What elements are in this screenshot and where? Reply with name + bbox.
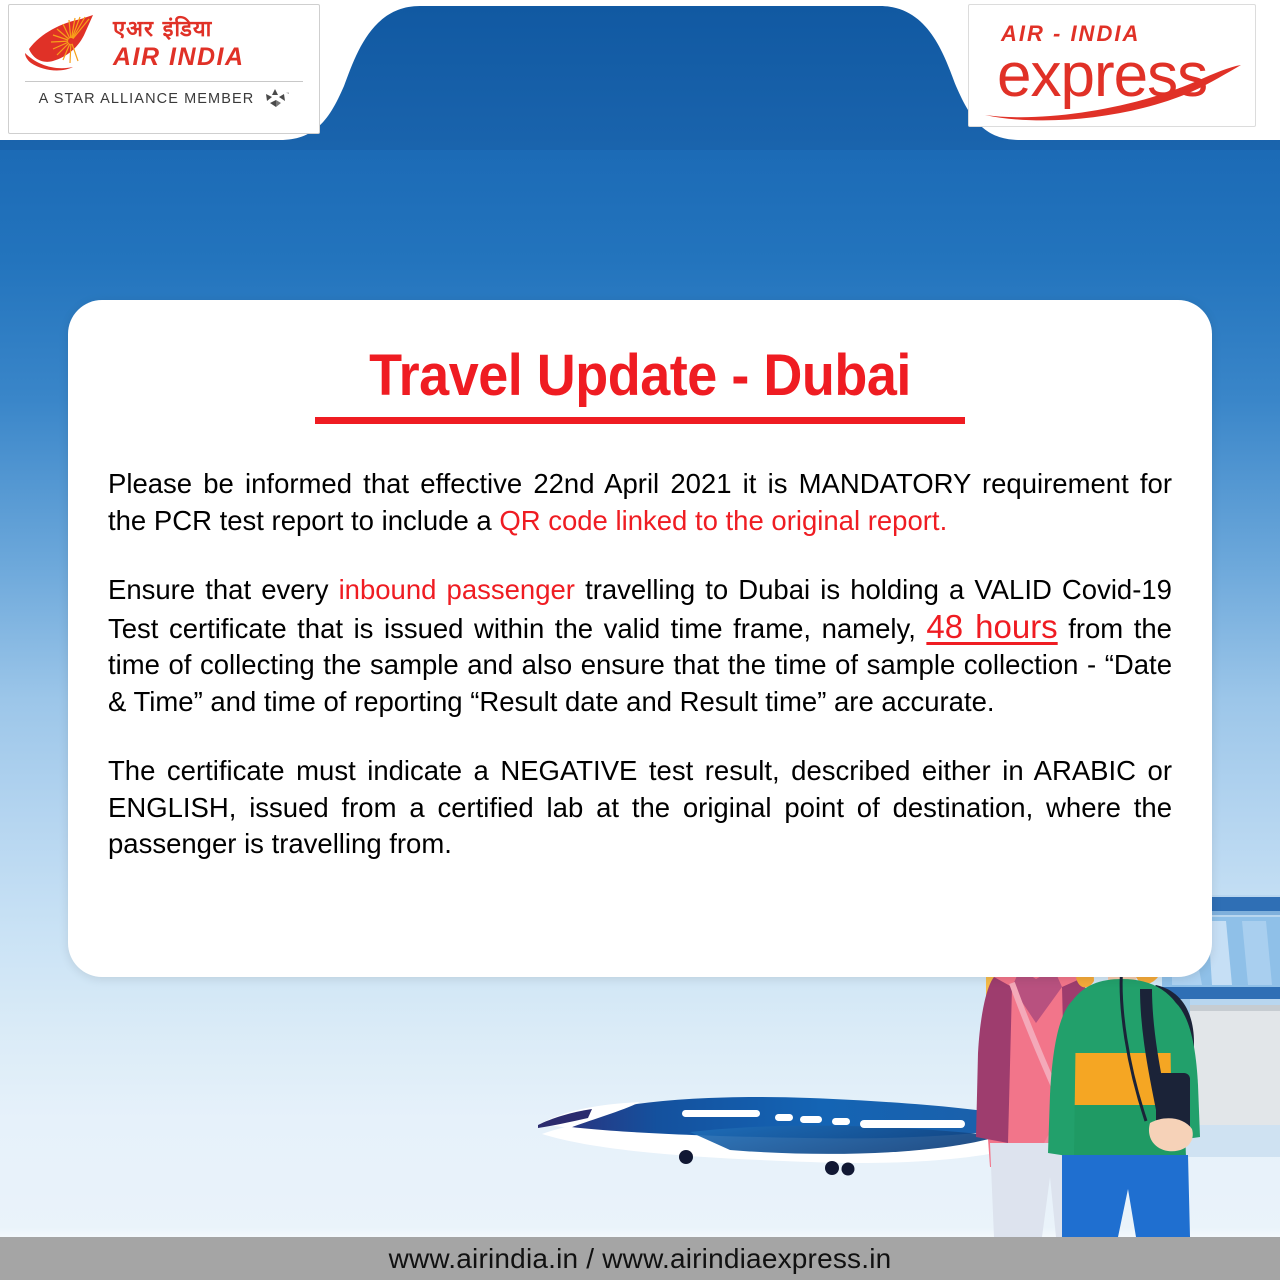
title-underline bbox=[315, 417, 965, 424]
p1-seg-1-highlight: QR code linked to the original report bbox=[499, 505, 939, 536]
poster-root: Travel Update - Dubai Please be informed… bbox=[0, 0, 1280, 1280]
footer-bar: www.airindia.in / www.airindiaexpress.in bbox=[0, 1237, 1280, 1280]
p2-seg-1-highlight: inbound passenger bbox=[339, 574, 575, 605]
paragraph-2: Ensure that every inbound passenger trav… bbox=[108, 572, 1172, 720]
content-card: Travel Update - Dubai Please be informed… bbox=[68, 300, 1212, 977]
air-india-express-logo: AIR - INDIA express bbox=[968, 4, 1256, 127]
p3-seg-0: The certificate must indicate a NEGATIVE… bbox=[108, 755, 1172, 859]
svg-text:™: ™ bbox=[286, 91, 289, 96]
air-india-swan-icon bbox=[23, 13, 109, 75]
paragraph-1: Please be informed that effective 22nd A… bbox=[108, 466, 1172, 539]
page-title: Travel Update - Dubai bbox=[143, 342, 1136, 410]
star-alliance-icon: ™ bbox=[263, 89, 289, 109]
footer-websites[interactable]: www.airindia.in / www.airindiaexpress.in bbox=[389, 1243, 892, 1275]
logo-divider bbox=[25, 81, 303, 82]
air-india-logo: एअर इंडिया AIR INDIA A STAR ALLIANCE MEM… bbox=[8, 4, 320, 134]
aie-main-text: express bbox=[997, 43, 1255, 109]
p1-seg-2: . bbox=[940, 505, 948, 536]
air-india-english-text: AIR INDIA bbox=[113, 43, 245, 71]
p2-seg-3-hours-highlight: 48 hours bbox=[926, 608, 1057, 645]
announcement-body: Please be informed that effective 22nd A… bbox=[106, 466, 1174, 863]
p2-seg-0: Ensure that every bbox=[108, 574, 339, 605]
header-bar: एअर इंडिया AIR INDIA A STAR ALLIANCE MEM… bbox=[0, 0, 1280, 150]
air-india-hindi-text: एअर इंडिया bbox=[113, 17, 245, 43]
star-alliance-text: A STAR ALLIANCE MEMBER bbox=[39, 91, 255, 107]
paragraph-3: The certificate must indicate a NEGATIVE… bbox=[108, 753, 1172, 863]
